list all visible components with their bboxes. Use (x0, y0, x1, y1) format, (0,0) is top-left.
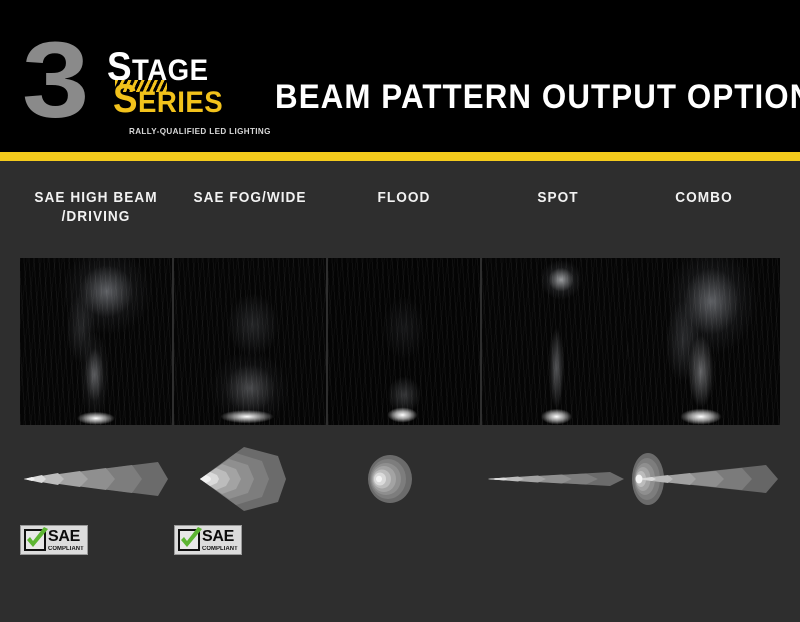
beam-column-flood: FLOOD (328, 161, 480, 622)
column-label-line1: SAE HIGH BEAM (34, 190, 157, 206)
column-label: SPOT (481, 189, 635, 208)
badge-text: SAE COMPLIANT (48, 529, 85, 552)
beam-photo-combo (628, 258, 780, 425)
badge-compliant-label: COMPLIANT (48, 546, 84, 552)
beam-spread-flood (328, 444, 480, 514)
column-label: COMBO (627, 189, 781, 208)
beam-photo-sae-fog-wide (174, 258, 326, 425)
badge-text: SAE COMPLIANT (202, 529, 239, 552)
checkbox-icon (178, 529, 200, 551)
beam-spread-sae-fog-wide (174, 444, 326, 514)
photo-texture (628, 258, 780, 425)
stage-series-logo: 3 STAGE SERIES RALLY-QUALIFIED LED LIGHT… (22, 30, 260, 135)
column-label-line1: SPOT (537, 190, 578, 206)
column-label-line1: FLOOD (378, 190, 431, 206)
beam-photo-sae-high-beam-driving (20, 258, 172, 425)
beam-column-combo: COMBO (628, 161, 780, 622)
photo-texture (328, 258, 480, 425)
beam-column-sae-high-beam-driving: SAE HIGH BEAM /DRIVING (20, 161, 172, 622)
logo-tagline: RALLY-QUALIFIED LED LIGHTING (129, 126, 271, 136)
yellow-divider-bar (0, 152, 800, 161)
column-label: FLOOD (327, 189, 481, 208)
beam-pattern-grid: SAE HIGH BEAM /DRIVING (0, 161, 800, 622)
column-label: SAE FOG/WIDE (173, 189, 327, 208)
logo-series-text: SERIES (113, 84, 223, 118)
sae-compliant-badge: SAE COMPLIANT (20, 525, 88, 555)
column-label-line2: /DRIVING (62, 209, 131, 225)
sae-compliant-badge: SAE COMPLIANT (174, 525, 242, 555)
badge-sae-label: SAE (48, 529, 85, 545)
beam-spread-spot (482, 444, 634, 514)
beam-column-spot: SPOT (482, 161, 634, 622)
logo-numeral-3: 3 (22, 26, 83, 134)
beam-spread-sae-high-beam-driving (20, 444, 172, 514)
photo-texture (482, 258, 634, 425)
column-label-line1: COMBO (675, 190, 732, 206)
badge-sae-label: SAE (202, 529, 239, 545)
page-title: BEAM PATTERN OUTPUT OPTIONS (275, 78, 800, 117)
column-label: SAE HIGH BEAM /DRIVING (15, 189, 177, 227)
checkbox-icon (24, 529, 46, 551)
badge-compliant-label: COMPLIANT (202, 546, 238, 552)
photo-texture (20, 258, 172, 425)
beam-photo-spot (482, 258, 634, 425)
beam-column-sae-fog-wide: SAE FOG/WIDE (174, 161, 326, 622)
header-bar: 3 STAGE SERIES RALLY-QUALIFIED LED LIGHT… (0, 0, 800, 152)
photo-texture (174, 258, 326, 425)
beam-pattern-infographic: 3 STAGE SERIES RALLY-QUALIFIED LED LIGHT… (0, 0, 800, 622)
beam-spread-combo (628, 444, 780, 514)
column-label-line1: SAE FOG/WIDE (193, 190, 306, 206)
beam-photo-flood (328, 258, 480, 425)
